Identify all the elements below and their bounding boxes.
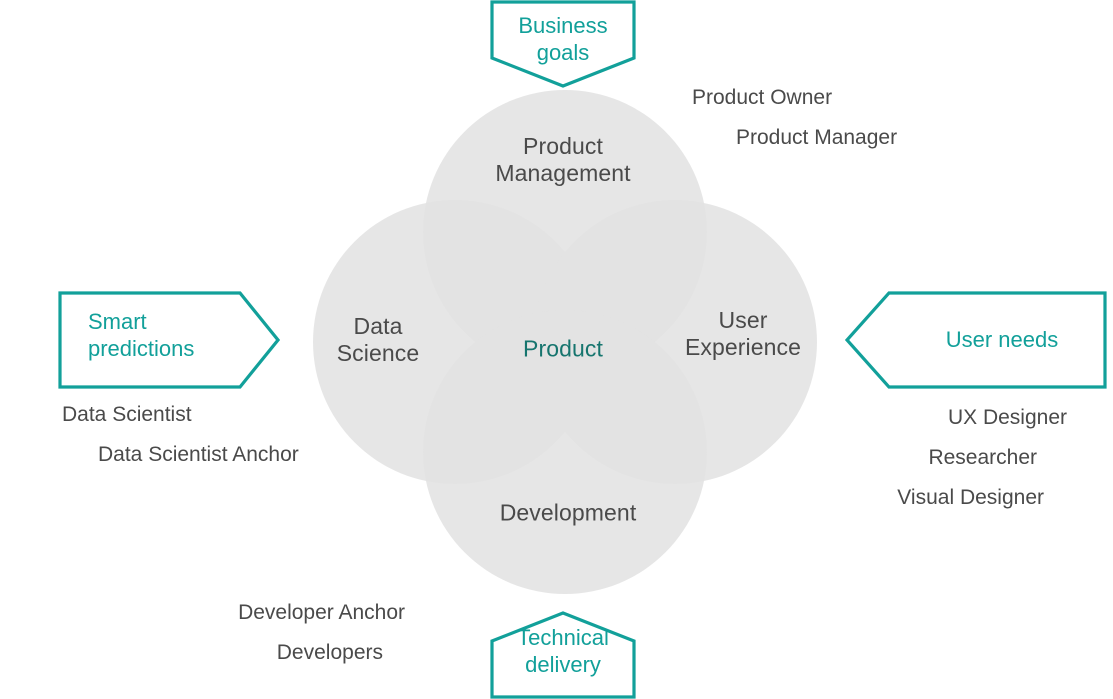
role-label: Data Scientist Anchor: [98, 435, 299, 475]
venn-label-development: Development: [500, 500, 637, 527]
role-group-data-science: Data Scientist Data Scientist Anchor: [62, 395, 299, 475]
callout-technical-delivery[interactable]: Technical delivery: [488, 611, 638, 699]
role-group-product-management: Product Owner Product Manager: [692, 78, 897, 158]
role-label: UX Designer: [767, 398, 1067, 438]
callout-smart-predictions[interactable]: Smart predictions: [58, 291, 280, 389]
venn-label-product-management: Product Management: [495, 133, 630, 187]
role-label: Visual Designer: [767, 478, 1044, 518]
callout-smart-predictions-label: Smart predictions: [88, 308, 238, 362]
role-group-development: Developer Anchor Developers: [105, 593, 405, 673]
role-group-user-experience: UX Designer Researcher Visual Designer: [767, 398, 1067, 518]
role-label: Researcher: [767, 438, 1037, 478]
role-label: Product Manager: [736, 118, 897, 158]
role-label: Product Owner: [692, 78, 897, 118]
role-label: Data Scientist: [62, 395, 299, 435]
diagram-canvas: Product Management Data Science User Exp…: [0, 0, 1113, 699]
callout-business-goals[interactable]: Business goals: [488, 0, 638, 88]
role-label: Developers: [105, 633, 383, 673]
role-label: Developer Anchor: [105, 593, 405, 633]
venn-label-data-science: Data Science: [337, 313, 420, 367]
callout-user-needs[interactable]: User needs: [845, 291, 1107, 389]
venn-label-product-center: Product: [523, 336, 603, 363]
callout-technical-delivery-label: Technical delivery: [488, 624, 638, 678]
callout-business-goals-label: Business goals: [488, 12, 638, 66]
callout-user-needs-label: User needs: [907, 326, 1097, 353]
venn-label-user-experience: User Experience: [685, 307, 801, 361]
